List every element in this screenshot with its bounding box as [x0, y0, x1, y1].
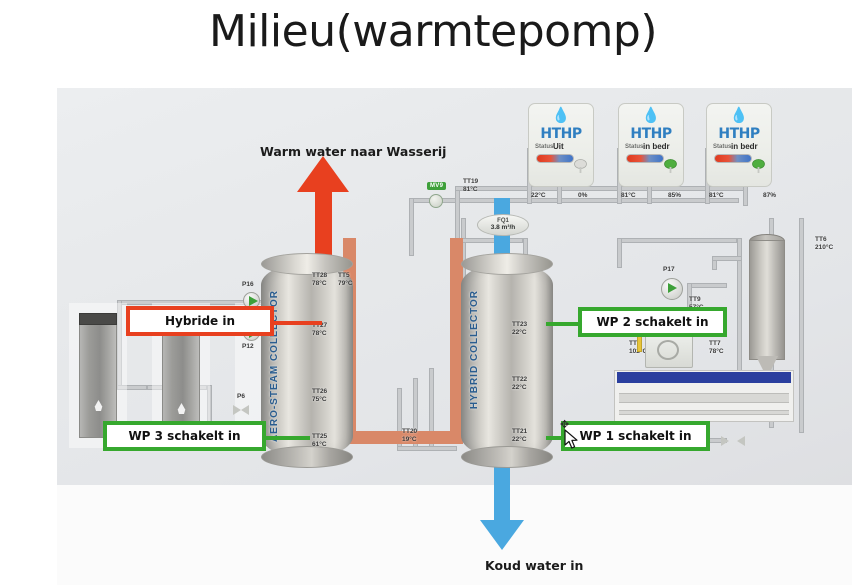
condenser-column: [749, 240, 785, 360]
slide-root: Milieu(warmtepomp): [0, 0, 866, 585]
callout-wp-3-schakelt-in[interactable]: WP 3 schakelt in: [103, 421, 266, 451]
hthp-output-pct-2: 85%: [668, 192, 681, 199]
hthp-status-label-1: Status: [535, 144, 553, 150]
sensor-tt19: TT19 81°C: [463, 178, 478, 194]
water-drop-icon: [177, 403, 186, 415]
hthp-pump-icon-2: [663, 159, 678, 173]
pump-p17-tag: P17: [663, 266, 675, 273]
valve-lower-right[interactable]: [721, 436, 745, 452]
hthp-pump-icon-3: [751, 159, 766, 173]
pipe-segment: [461, 238, 523, 243]
callout-wp-1-schakelt-in[interactable]: WP 1 schakelt in: [561, 421, 710, 451]
basin-divider: [619, 410, 789, 415]
move-handle-icon: ✥: [560, 420, 569, 431]
basin-water-level: [617, 372, 791, 383]
callout-wp-2-schakelt-in[interactable]: WP 2 schakelt in: [578, 307, 727, 337]
hthp-status-value-2: in bedr: [643, 142, 670, 151]
pump-p16-indicator: [249, 296, 258, 306]
pipe-segment: [617, 238, 622, 268]
hthp-unit-1[interactable]: 💧 HTHP Status Uit: [528, 103, 594, 187]
callout-lead-hybride-in: [272, 321, 322, 325]
hthp-status-value-1: Uit: [553, 142, 564, 151]
column-cap: [79, 313, 117, 325]
valve-mv9-body[interactable]: [429, 194, 443, 208]
pipe-segment: [409, 198, 414, 256]
water-drop-icon: [94, 400, 103, 412]
hthp-heat-bar-3: [714, 154, 752, 163]
callout-hybride-in[interactable]: Hybride in: [126, 306, 274, 336]
pipe-segment: [397, 446, 457, 451]
pipe-segment: [687, 283, 727, 288]
hthp-unit-2[interactable]: 💧 HTHP Status in bedr: [618, 103, 684, 187]
flow-label-koud-water: Koud water in: [485, 558, 583, 573]
hthp-inlet-temp-1: 22°C: [531, 192, 546, 199]
hthp-logo-2: HTHP: [619, 126, 683, 142]
flame-icon: 💧: [707, 108, 771, 123]
flame-icon: 💧: [619, 108, 683, 123]
hthp-inlet-temp-2: 81°C: [621, 192, 636, 199]
hthp-heat-bar-2: [626, 154, 664, 163]
cold-water-arrow-head-lower: [480, 520, 524, 550]
hthp-heat-bar-1: [536, 154, 574, 163]
sensor-tt21: TT21 22°C: [512, 428, 527, 444]
valve-p6-body[interactable]: [233, 405, 249, 416]
tank-aero-steam-collector: AERO-STEAM COLLECTOR: [261, 263, 353, 458]
pipe-segment: [617, 238, 737, 243]
hmi-process-diagram: AERO-STEAM COLLECTOR TT28 78°C TT5 79°C …: [57, 88, 852, 485]
sensor-tt20: TT20 19°C: [402, 428, 417, 444]
tank-bottom-cap: [461, 446, 553, 468]
pipe-segment: [743, 186, 748, 206]
sensor-tt28: TT28 78°C: [312, 272, 327, 288]
pipe-segment: [455, 186, 745, 191]
hthp-status-label-2: Status: [625, 144, 643, 150]
cold-water-arrow-shaft-lower: [494, 485, 510, 523]
sensor-tt5: TT5 79°C: [338, 272, 353, 288]
callout-lead-wp3: [265, 436, 310, 440]
flame-icon: 💧: [529, 108, 593, 123]
flowmeter-fq1[interactable]: FQ1 3.8 m³/h: [477, 214, 529, 236]
basin-divider: [619, 393, 789, 403]
slide-lower-area: [57, 485, 852, 585]
pump-p12-tag: P12: [242, 343, 254, 350]
hthp-output-pct-3: 87%: [763, 192, 776, 199]
hthp-output-pct-1: 0%: [578, 192, 587, 199]
hthp-logo-1: HTHP: [529, 126, 593, 142]
hthp-inlet-temp-3: 81°C: [709, 192, 724, 199]
sensor-tt25: TT25 61°C: [312, 433, 327, 449]
pipe-segment: [712, 256, 742, 261]
hthp-status-value-3: in bedr: [731, 142, 758, 151]
hthp-status-label-3: Status: [713, 144, 731, 150]
tank-hybrid-collector: HYBRID COLLECTOR: [461, 263, 553, 458]
hot-water-arrow-head: [297, 156, 349, 192]
machine-ring: [657, 340, 679, 360]
filter-column-1: [79, 313, 117, 438]
sensor-tt23: TT23 22°C: [512, 321, 527, 337]
machine-indicator-bar: [637, 336, 642, 352]
sensor-tt6: TT6 210°C: [815, 236, 833, 252]
pump-p16-tag: P16: [242, 281, 254, 288]
page-title: Milieu(warmtepomp): [0, 6, 866, 57]
tank-top-cap: [461, 253, 553, 275]
pump-p17-indicator: [668, 283, 677, 293]
flow-label-warm-water: Warm water naar Wasserij: [260, 144, 446, 159]
sensor-tt26: TT26 75°C: [312, 388, 327, 404]
tank-label-hybrid-collector: HYBRID COLLECTOR: [469, 290, 480, 409]
hthp-pump-icon-1: [573, 159, 588, 173]
sensor-tt22: TT22 22°C: [512, 376, 527, 392]
hthp-unit-3[interactable]: 💧 HTHP Status in bedr: [706, 103, 772, 187]
tank-bottom-cap: [261, 446, 353, 468]
valve-mv9-tag: MV9: [427, 182, 446, 190]
pipe-segment: [799, 218, 804, 433]
flowmeter-fq1-value: 3.8 m³/h: [478, 224, 528, 231]
valve-p6-tag: P6: [237, 393, 245, 400]
hthp-logo-3: HTHP: [707, 126, 771, 142]
sensor-tt7: TT7 78°C: [709, 340, 724, 356]
